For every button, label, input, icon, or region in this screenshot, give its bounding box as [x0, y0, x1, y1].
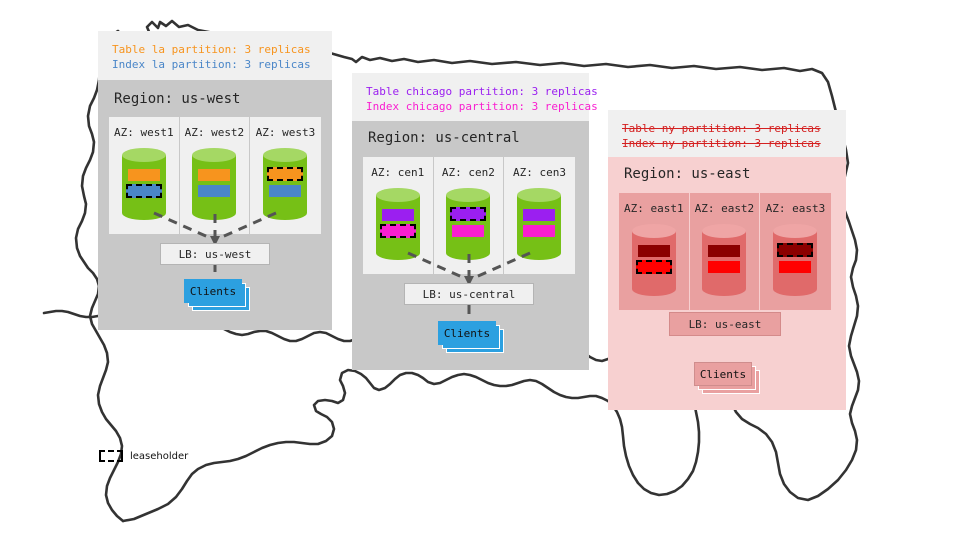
- cylinder-cen3: [517, 188, 561, 260]
- az-label-west1: AZ: west1: [114, 126, 174, 139]
- partition-line-index-ny: Index ny partition: 3 replicas: [622, 136, 832, 151]
- cylinder-top: [632, 224, 676, 238]
- az-label-east2: AZ: east2: [695, 202, 755, 215]
- az-label-east3: AZ: east3: [766, 202, 826, 215]
- az-row-us-central: AZ: cen1 AZ: cen2: [363, 157, 575, 274]
- clients-label-us-central: Clients: [444, 327, 490, 340]
- band-table-replica-cen3: [523, 209, 555, 221]
- partition-line-table-la: Table la partition: 3 replicas: [112, 42, 318, 57]
- lb-label-us-east: LB: us-east: [689, 318, 762, 331]
- partition-line-table-ny: Table ny partition: 3 replicas: [622, 121, 832, 136]
- az-box-west1[interactable]: AZ: west1: [109, 117, 180, 234]
- band-table-replica-east2: [708, 245, 740, 257]
- cylinder-top: [122, 148, 166, 162]
- az-box-cen3[interactable]: AZ: cen3: [504, 157, 575, 274]
- lb-box-us-east[interactable]: LB: us-east: [669, 312, 781, 336]
- az-box-west2[interactable]: AZ: west2: [180, 117, 251, 234]
- cylinder-cen1: [376, 188, 420, 260]
- diagram-canvas: Table la partition: 3 replicas Index la …: [0, 0, 960, 540]
- cylinder-body: [446, 195, 490, 253]
- band-index-replica-east2: [708, 261, 740, 273]
- clients-stack-us-east[interactable]: Clients: [694, 362, 760, 396]
- lb-box-us-west[interactable]: LB: us-west: [160, 243, 270, 265]
- legend-leaseholder: leaseholder: [99, 450, 188, 462]
- clients-front-us-west[interactable]: Clients: [184, 279, 242, 303]
- cylinder-west3: [263, 148, 307, 220]
- cylinder-body: [773, 231, 817, 289]
- legend-label-leaseholder: leaseholder: [130, 451, 188, 462]
- band-index-replica-east1-leaseholder: [636, 260, 672, 274]
- az-box-cen1[interactable]: AZ: cen1: [363, 157, 434, 274]
- band-table-replica-east3-leaseholder: [777, 243, 813, 257]
- az-box-west3[interactable]: AZ: west3: [250, 117, 321, 234]
- cylinder-cen2: [446, 188, 490, 260]
- az-box-east2[interactable]: AZ: east2: [690, 193, 761, 310]
- cylinder-east1: [632, 224, 676, 296]
- band-index-replica-cen2: [452, 225, 484, 237]
- cylinder-body: [263, 155, 307, 213]
- partition-line-table-chicago: Table chicago partition: 3 replicas: [366, 84, 575, 99]
- az-label-cen2: AZ: cen2: [442, 166, 495, 179]
- cylinder-body: [192, 155, 236, 213]
- az-label-cen1: AZ: cen1: [371, 166, 424, 179]
- az-box-cen2[interactable]: AZ: cen2: [434, 157, 505, 274]
- lb-label-us-central: LB: us-central: [423, 288, 516, 301]
- az-row-us-west: AZ: west1 AZ: west2: [109, 117, 321, 234]
- cylinder-west2: [192, 148, 236, 220]
- az-box-east1[interactable]: AZ: east1: [619, 193, 690, 310]
- clients-stack-us-central[interactable]: Clients: [438, 321, 504, 355]
- clients-label-us-east: Clients: [700, 368, 746, 381]
- region-title-us-west: Region: us-west: [114, 91, 240, 107]
- region-title-us-east: Region: us-east: [624, 166, 750, 182]
- partition-header-us-east: Table ny partition: 3 replicas Index ny …: [608, 110, 846, 157]
- az-label-cen3: AZ: cen3: [513, 166, 566, 179]
- partition-line-index-la: Index la partition: 3 replicas: [112, 57, 318, 72]
- cylinder-body: [702, 231, 746, 289]
- band-table-replica-cen1: [382, 209, 414, 221]
- leaseholder-swatch-icon: [99, 450, 123, 462]
- az-row-us-east: AZ: east1 AZ: east2: [619, 193, 831, 310]
- region-title-us-central: Region: us-central: [368, 130, 520, 146]
- region-us-east: Table ny partition: 3 replicas Index ny …: [608, 110, 846, 410]
- clients-front-us-east[interactable]: Clients: [694, 362, 752, 386]
- partition-header-us-central: Table chicago partition: 3 replicas Inde…: [352, 73, 589, 121]
- band-table-replica-west1: [128, 169, 160, 181]
- band-table-replica-west3-leaseholder: [267, 167, 303, 181]
- band-table-replica-west2: [198, 169, 230, 181]
- partition-line-index-chicago: Index chicago partition: 3 replicas: [366, 99, 575, 114]
- az-box-east3[interactable]: AZ: east3: [760, 193, 831, 310]
- lb-box-us-central[interactable]: LB: us-central: [404, 283, 534, 305]
- cylinder-west1: [122, 148, 166, 220]
- band-index-replica-east3: [779, 261, 811, 273]
- clients-label-us-west: Clients: [190, 285, 236, 298]
- az-label-west2: AZ: west2: [185, 126, 245, 139]
- lb-label-us-west: LB: us-west: [179, 248, 252, 261]
- band-table-replica-east1: [638, 245, 670, 257]
- band-index-replica-cen3: [523, 225, 555, 237]
- partition-header-us-west: Table la partition: 3 replicas Index la …: [98, 31, 332, 80]
- az-label-east1: AZ: east1: [624, 202, 684, 215]
- cylinder-east3: [773, 224, 817, 296]
- clients-stack-us-west[interactable]: Clients: [184, 279, 250, 313]
- band-index-replica-west3: [269, 185, 301, 197]
- cylinder-top: [376, 188, 420, 202]
- band-index-replica-cen1-leaseholder: [380, 224, 416, 238]
- region-us-central: Table chicago partition: 3 replicas Inde…: [352, 73, 589, 370]
- region-us-west: Table la partition: 3 replicas Index la …: [98, 31, 332, 330]
- az-label-west3: AZ: west3: [256, 126, 316, 139]
- cylinder-east2: [702, 224, 746, 296]
- band-index-replica-west1-leaseholder: [126, 184, 162, 198]
- band-table-replica-cen2-leaseholder: [450, 207, 486, 221]
- cylinder-body: [517, 195, 561, 253]
- clients-front-us-central[interactable]: Clients: [438, 321, 496, 345]
- band-index-replica-west2: [198, 185, 230, 197]
